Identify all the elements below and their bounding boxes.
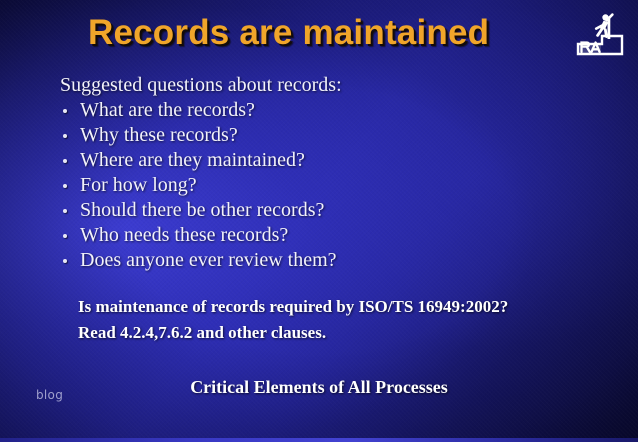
bullet-dot-icon: [63, 209, 67, 213]
list-item: Who needs these records?: [60, 223, 337, 248]
emphasis-line-2: Read 4.2.4,7.6.2 and other clauses.: [78, 320, 508, 346]
list-item-label: Where are they maintained?: [80, 149, 305, 171]
bullet-dot-icon: [63, 234, 67, 238]
list-item-label: Should there be other records?: [80, 199, 324, 221]
list-item-label: For how long?: [80, 174, 197, 196]
emphasis-block: Is maintenance of records required by IS…: [78, 294, 508, 346]
list-item-label: Who needs these records?: [80, 224, 288, 246]
footer-headline: Critical Elements of All Processes: [0, 377, 638, 398]
question-bullet-list: What are the records? Why these records?…: [60, 98, 337, 273]
presentation-slide: Records are maintained: [0, 0, 638, 442]
list-item-label: Does anyone ever review them?: [80, 249, 337, 271]
bullet-dot-icon: [63, 184, 67, 188]
bullet-dot-icon: [63, 159, 67, 163]
list-item: Does anyone ever review them?: [60, 248, 337, 273]
list-item: What are the records?: [60, 98, 337, 123]
list-item-label: What are the records?: [80, 99, 255, 121]
bullet-dot-icon: [63, 134, 67, 138]
slide-title: Records are maintained: [88, 13, 489, 53]
list-item-label: Why these records?: [80, 124, 238, 146]
bullet-dot-icon: [63, 109, 67, 113]
bullet-dot-icon: [63, 259, 67, 263]
body-lead-text: Suggested questions about records:: [60, 74, 342, 97]
climbing-figure-ra-logo-icon: [576, 8, 624, 60]
list-item: For how long?: [60, 173, 337, 198]
slide-content: Records are maintained: [0, 0, 638, 442]
blog-watermark: blog: [36, 388, 63, 402]
list-item: Where are they maintained?: [60, 148, 337, 173]
emphasis-line-1: Is maintenance of records required by IS…: [78, 294, 508, 320]
list-item: Why these records?: [60, 123, 337, 148]
list-item: Should there be other records?: [60, 198, 337, 223]
